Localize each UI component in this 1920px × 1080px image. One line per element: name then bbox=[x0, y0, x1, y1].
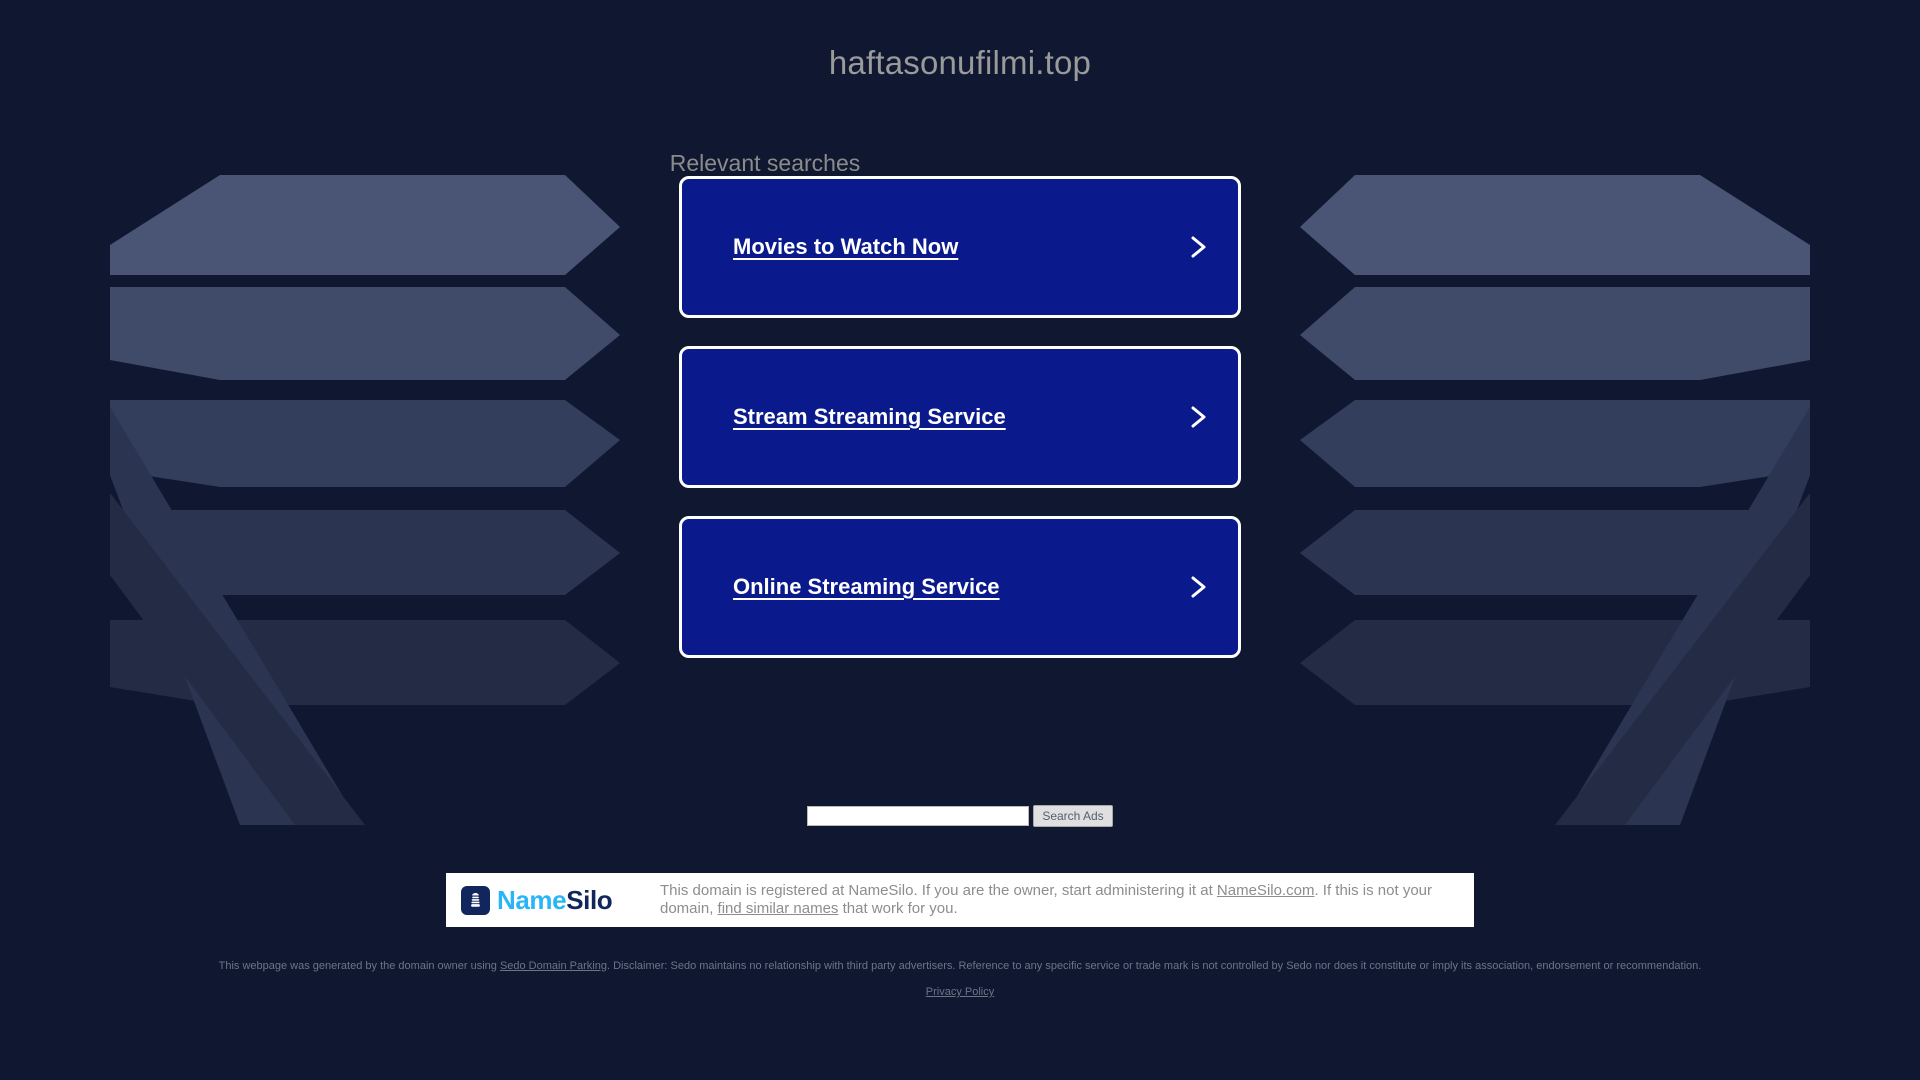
decor-band-4 bbox=[110, 510, 620, 595]
namesilo-text-part3: that work for you. bbox=[838, 900, 957, 917]
decor-band-4 bbox=[1300, 510, 1810, 595]
decor-band-5 bbox=[110, 620, 620, 705]
relevant-search-card-2[interactable]: Stream Streaming Service bbox=[679, 346, 1241, 488]
namesilo-wordmark: NameSilo bbox=[497, 887, 612, 913]
namesilo-com-link[interactable]: NameSilo.com bbox=[1217, 882, 1315, 899]
namesilo-text-part1: This domain is registered at NameSilo. I… bbox=[660, 882, 1217, 899]
decor-wedge-a bbox=[110, 407, 360, 825]
namesilo-wordmark-silo: Silo bbox=[566, 885, 612, 915]
disclaimer-part2: . Disclaimer: Sedo maintains no relation… bbox=[607, 960, 1701, 972]
search-ads-form: Search Ads bbox=[0, 805, 1920, 827]
decor-band-1 bbox=[1300, 175, 1810, 275]
decor-wedge-b bbox=[110, 493, 365, 825]
silo-icon bbox=[461, 886, 490, 915]
decor-band-2 bbox=[1300, 287, 1810, 380]
decor-wedge-a bbox=[1560, 407, 1810, 825]
page-title: haftasonufilmi.top bbox=[0, 44, 1920, 82]
relevant-search-card-3[interactable]: Online Streaming Service bbox=[679, 516, 1241, 658]
chevron-right-icon bbox=[1188, 234, 1210, 260]
footer-privacy-row: Privacy Policy bbox=[0, 986, 1920, 998]
namesilo-banner: NameSilo This domain is registered at Na… bbox=[446, 873, 1474, 927]
relevant-search-card-1[interactable]: Movies to Watch Now bbox=[679, 176, 1241, 318]
privacy-policy-link[interactable]: Privacy Policy bbox=[926, 986, 994, 998]
decor-band-1 bbox=[110, 175, 620, 275]
decorative-stack-left bbox=[110, 175, 620, 825]
relevant-searches-heading: Relevant searches bbox=[0, 150, 1530, 177]
decor-band-5 bbox=[1300, 620, 1810, 705]
namesilo-logo: NameSilo bbox=[446, 886, 660, 915]
footer-disclaimer: This webpage was generated by the domain… bbox=[0, 960, 1920, 972]
namesilo-wordmark-name: Name bbox=[497, 885, 566, 915]
chevron-right-icon bbox=[1188, 404, 1210, 430]
relevant-search-label-1: Movies to Watch Now bbox=[733, 234, 958, 260]
decor-band-3 bbox=[110, 400, 620, 487]
disclaimer-part1: This webpage was generated by the domain… bbox=[219, 960, 500, 972]
decor-wedge-b bbox=[1555, 493, 1810, 825]
find-similar-names-link[interactable]: find similar names bbox=[718, 900, 839, 917]
sedo-domain-parking-link[interactable]: Sedo Domain Parking bbox=[500, 960, 607, 972]
chevron-right-icon bbox=[1188, 574, 1210, 600]
decor-band-2 bbox=[110, 287, 620, 380]
relevant-search-label-3: Online Streaming Service bbox=[733, 574, 1000, 600]
search-ads-button[interactable]: Search Ads bbox=[1033, 805, 1112, 827]
parked-domain-page: haftasonufilmi.top Relevant searches Mov… bbox=[0, 0, 1920, 1080]
decorative-stack-right bbox=[1300, 175, 1810, 825]
decor-band-3 bbox=[1300, 400, 1810, 487]
relevant-search-label-2: Stream Streaming Service bbox=[733, 404, 1006, 430]
search-input[interactable] bbox=[807, 806, 1029, 826]
relevant-searches-list: Movies to Watch Now Stream Streaming Ser… bbox=[679, 176, 1241, 686]
namesilo-message: This domain is registered at NameSilo. I… bbox=[660, 882, 1474, 919]
